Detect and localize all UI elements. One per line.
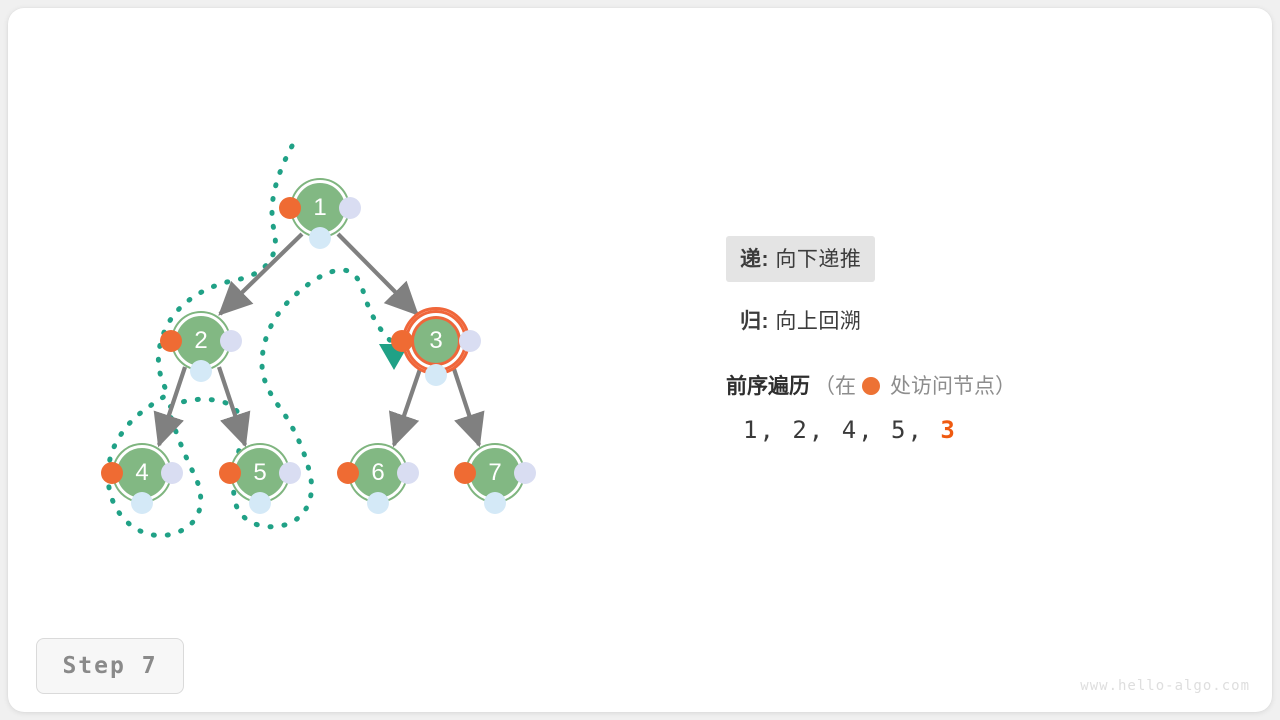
edge-2-5: [219, 367, 245, 445]
edge-1-3: [338, 234, 417, 314]
traversal-sequence: 1, 2, 4, 5, 3: [743, 416, 957, 444]
node-port-down-icon: [190, 360, 212, 382]
edge-3-7: [454, 369, 479, 445]
node-port-right-icon: [279, 462, 301, 484]
diagram-card: 1 2 3 4 5: [8, 8, 1272, 712]
node-port-down-icon: [249, 492, 271, 514]
traversal-title-strong: 前序遍历: [726, 370, 810, 400]
traversal-sequence-current: 3: [940, 416, 956, 444]
edge-2-4: [159, 367, 185, 445]
traversal-title-open: （在: [814, 370, 856, 400]
node-port-down-icon: [309, 227, 331, 249]
node-port-down-icon: [484, 492, 506, 514]
node-port-down-icon: [131, 492, 153, 514]
traversal-title-close: 处访问节点）: [890, 370, 1016, 400]
node-port-right-icon: [514, 462, 536, 484]
legend-return: 归: 向上回溯: [726, 298, 875, 344]
node-port-right-icon: [220, 330, 242, 352]
node-port-left-icon: [101, 462, 123, 484]
node-label: 3: [408, 313, 464, 369]
legend-return-label: 归:: [740, 310, 769, 333]
legend-return-text: 向上回溯: [775, 310, 861, 333]
node-port-right-icon: [339, 197, 361, 219]
legend-recurse: 递: 向下递推: [726, 236, 875, 282]
edge-3-6: [394, 369, 420, 445]
watermark: www.hello-algo.com: [1080, 678, 1250, 694]
diagram-stage: 1 2 3 4 5: [8, 8, 1272, 712]
orange-dot-icon: [862, 377, 880, 395]
node-port-down-icon: [425, 364, 447, 386]
node-port-right-icon: [161, 462, 183, 484]
node-port-left-icon: [219, 462, 241, 484]
node-port-down-icon: [367, 492, 389, 514]
node-port-left-icon: [279, 197, 301, 219]
legend-recurse-label: 递:: [740, 248, 769, 271]
traversal-sequence-prefix: 1, 2, 4, 5,: [743, 416, 940, 444]
traversal-title: 前序遍历 （在 处访问节点）: [726, 370, 1016, 400]
step-badge: Step 7: [36, 638, 184, 694]
node-port-right-icon: [459, 330, 481, 352]
edge-1-2: [220, 234, 302, 314]
node-port-right-icon: [397, 462, 419, 484]
node-port-left-icon: [391, 330, 413, 352]
node-port-left-icon: [160, 330, 182, 352]
node-port-left-icon: [454, 462, 476, 484]
legend-recurse-text: 向下递推: [775, 248, 861, 271]
node-port-left-icon: [337, 462, 359, 484]
